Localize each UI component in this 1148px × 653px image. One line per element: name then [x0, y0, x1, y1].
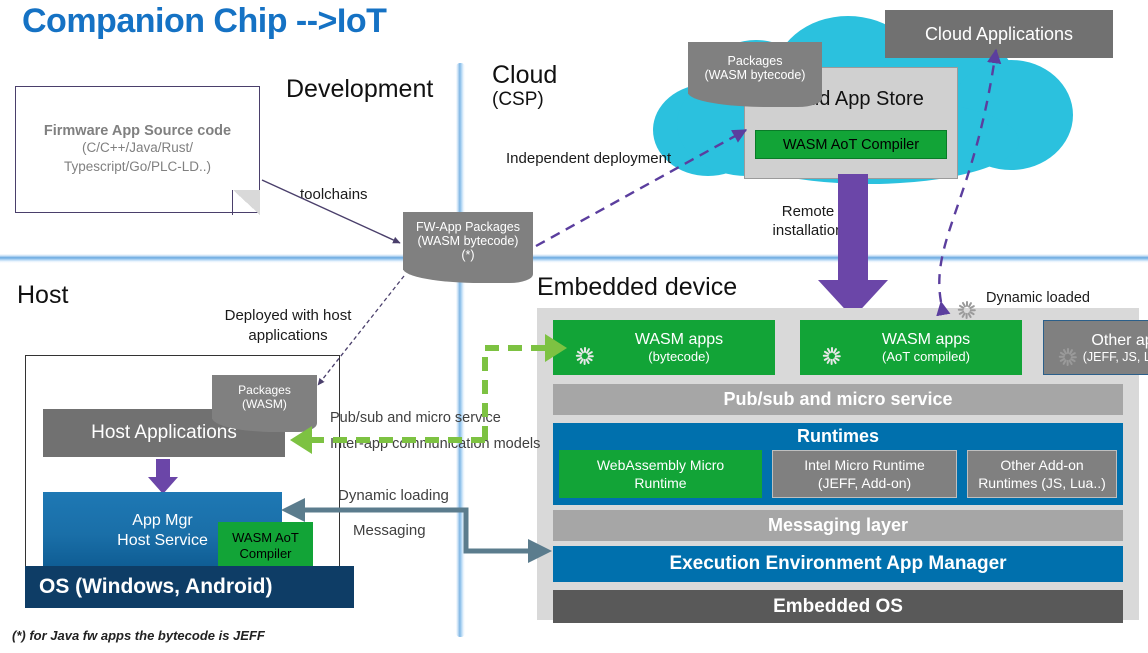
- page-title: Companion Chip -->IoT: [22, 2, 386, 41]
- section-label-embedded-device: Embedded device: [537, 273, 737, 302]
- embedded-app-wasm-aot[interactable]: WASM apps (AoT compiled): [800, 320, 1022, 375]
- vertical-divider: [456, 63, 465, 637]
- app-mgr-line1: App Mgr: [132, 511, 192, 531]
- runtime-0-line2: Runtime: [634, 474, 686, 492]
- dynamic-loaded-spinner-icon: [1054, 335, 1080, 361]
- deployed-with-host-label: Deployed with host applications: [198, 306, 378, 345]
- embedded-os-band: Embedded OS: [553, 590, 1123, 623]
- embedded-pubsub-band: Pub/sub and micro service: [553, 384, 1123, 415]
- host-pubsub-label: Pub/sub and micro service: [330, 410, 501, 426]
- app-mgr-line2: Host Service: [117, 531, 208, 551]
- fw-packages-line3: (*): [461, 248, 474, 262]
- embedded-app-0-name: WASM apps: [635, 331, 723, 349]
- firmware-source-line3: Typescript/Go/PLC-LD..): [64, 158, 211, 176]
- embedded-app-0-sub: (bytecode): [648, 349, 709, 364]
- runtime-webassembly-micro[interactable]: WebAssembly Micro Runtime: [559, 450, 762, 498]
- host-packages-line2: (WASM): [242, 397, 287, 411]
- host-os-bar: OS (Windows, Android): [25, 566, 354, 608]
- dynamic-loaded-spinner-icon: [571, 334, 597, 360]
- interapp-green-connector: [310, 348, 545, 440]
- embedded-app-2-name: Other apps: [1091, 332, 1148, 350]
- embedded-app-1-sub: (AoT compiled): [882, 349, 970, 364]
- runtime-2-line1: Other Add-on: [1000, 456, 1083, 474]
- runtime-other-addon[interactable]: Other Add-on Runtimes (JS, Lua..): [967, 450, 1117, 498]
- footnote: (*) for Java fw apps the bytecode is JEF…: [12, 628, 265, 643]
- firmware-source-line2: (C/C++/Java/Rust/: [82, 139, 193, 157]
- host-interapp-label: Inter-app communication models: [330, 436, 540, 452]
- runtime-0-line1: WebAssembly Micro: [597, 456, 724, 474]
- page-foldcorner-icon: [232, 190, 260, 215]
- runtime-1-line1: Intel Micro Runtime: [804, 456, 925, 474]
- host-wasm-aot-line1: WASM AoT: [232, 530, 299, 546]
- firmware-source-code-box: Firmware App Source code (C/C++/Java/Rus…: [15, 86, 260, 213]
- fw-app-packages-callout: FW-App Packages (WASM bytecode) (*): [403, 212, 533, 270]
- dynamic-loaded-spinner-icon: [955, 290, 977, 312]
- host-flow-arrow: [156, 459, 170, 479]
- host-wasm-aot-compiler-box: WASM AoT Compiler: [218, 522, 313, 570]
- embedded-app-wasm-bytecode[interactable]: WASM apps (bytecode): [553, 320, 775, 375]
- independent-deployment-label: Independent deployment: [506, 150, 671, 167]
- fw-packages-line1: FW-App Packages: [416, 220, 520, 234]
- embedded-runtimes-band: Runtimes WebAssembly Micro Runtime Intel…: [553, 423, 1123, 505]
- toolchains-label: toolchains: [300, 186, 368, 203]
- deployed-line1: Deployed with host: [225, 306, 352, 326]
- embedded-app-2-sub: (JEFF, JS, Lua...): [1083, 350, 1148, 364]
- fw-packages-line2: (WASM bytecode): [418, 234, 519, 248]
- section-label-development: Development: [286, 75, 433, 104]
- section-label-cloud: Cloud (CSP): [492, 61, 557, 110]
- embedded-app-1-name: WASM apps: [882, 331, 970, 349]
- remote-installation-arrow: [838, 174, 868, 282]
- remote-installation-line2: installation: [773, 222, 844, 241]
- cloud-packages-line2: (WASM bytecode): [705, 68, 806, 82]
- cloud-label-main: Cloud: [492, 61, 557, 89]
- dynamic-loaded-legend-label: Dynamic loaded: [986, 290, 1090, 306]
- runtime-2-line2: Runtimes (JS, Lua..): [978, 474, 1106, 492]
- cloud-label-sub: (CSP): [492, 90, 557, 110]
- section-label-host: Host: [17, 281, 68, 310]
- deployed-line2: applications: [248, 326, 327, 346]
- dynamic-loading-label: Dynamic loading: [338, 487, 449, 504]
- host-packages-callout: Packages (WASM): [212, 375, 317, 419]
- cloud-packages-line1: Packages: [728, 54, 783, 68]
- runtime-intel-micro[interactable]: Intel Micro Runtime (JEFF, Add-on): [772, 450, 957, 498]
- cloud-packages-callout: Packages (WASM bytecode): [688, 42, 822, 94]
- cloud-applications-box: Cloud Applications: [885, 10, 1113, 58]
- host-wasm-aot-line2: Compiler: [239, 546, 291, 562]
- dynamic-loaded-legend: Dynamic loaded: [962, 289, 1090, 307]
- embedded-app-manager-band: Execution Environment App Manager: [553, 546, 1123, 582]
- embedded-messaging-layer-band: Messaging layer: [553, 510, 1123, 541]
- runtimes-band-title: Runtimes: [553, 423, 1123, 450]
- runtime-1-line2: (JEFF, Add-on): [818, 474, 911, 492]
- embedded-device-container: WASM apps (bytecode) WASM apps (AoT comp…: [537, 308, 1139, 620]
- cloud-wasm-aot-compiler: WASM AoT Compiler: [755, 130, 947, 159]
- host-packages-line1: Packages: [238, 383, 291, 397]
- horizontal-divider: [0, 254, 1148, 263]
- embedded-app-other[interactable]: Other apps (JEFF, JS, Lua...): [1043, 320, 1148, 375]
- remote-installation-line1: Remote: [782, 203, 835, 222]
- dynamic-loaded-spinner-icon: [818, 334, 844, 360]
- firmware-source-heading: Firmware App Source code: [44, 123, 231, 139]
- messaging-label: Messaging: [353, 522, 426, 539]
